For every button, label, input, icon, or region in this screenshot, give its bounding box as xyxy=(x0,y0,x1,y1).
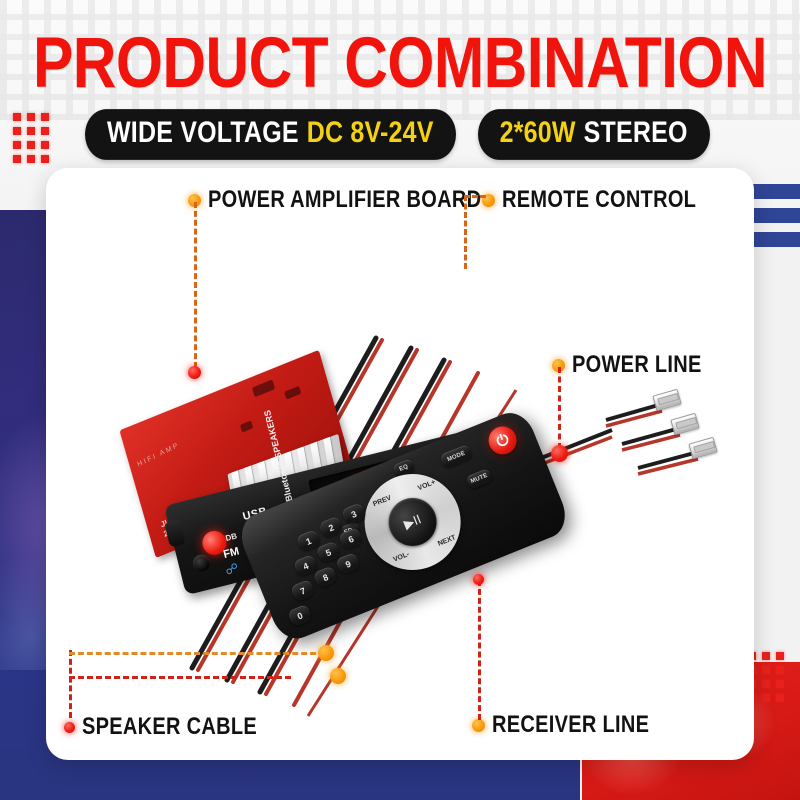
remote-key-7[interactable]: 7 xyxy=(290,579,316,603)
badge-wide-voltage: WIDE VOLTAGE DC 8V-24V xyxy=(85,109,456,160)
callout-line-speaker-h2 xyxy=(69,676,291,679)
remote-key-0[interactable]: 0 xyxy=(287,604,313,628)
anchor-dot-receiver xyxy=(473,574,484,585)
anchor-dot-power xyxy=(551,445,568,462)
remote-power-button[interactable]: ⏻ xyxy=(484,422,520,458)
jst-connector-3 xyxy=(688,437,717,460)
callout-speaker-cable: SPEAKER CABLE xyxy=(64,716,257,739)
callout-line-speaker-v xyxy=(69,650,72,718)
callout-receiver-line: RECEIVER LINE xyxy=(472,714,649,737)
callout-label: POWER AMPLIFIER BOARD xyxy=(208,187,481,215)
callout-power-amplifier-board: POWER AMPLIFIER BOARD xyxy=(188,189,481,212)
orange-dot-icon xyxy=(472,719,485,732)
callout-label: REMOTE CONTROL xyxy=(502,187,696,215)
remote-button-mode[interactable]: MODE xyxy=(440,444,473,469)
product-card: HIFI AMP JL-Y06 V1.0 2022-01-20 DB FM xyxy=(46,168,754,760)
product-combination-banner: PRODUCT COMBINATION WIDE VOLTAGE DC 8V-2… xyxy=(0,0,800,800)
callout-line-speaker-h1 xyxy=(69,652,325,655)
callout-label: RECEIVER LINE xyxy=(492,712,649,740)
pcb-silk-side: HIFI AMP xyxy=(137,442,181,469)
callout-remote-control: REMOTE CONTROL xyxy=(482,189,696,212)
badge-wide-voltage-value: DC 8V-24V xyxy=(307,116,434,150)
remote-key-9[interactable]: 9 xyxy=(335,552,361,576)
callout-line-remote-v xyxy=(464,195,467,269)
badge-stereo-power-label: STEREO xyxy=(584,116,688,150)
dpad-label-voldown: VOL- xyxy=(392,551,410,564)
jst-connector-1 xyxy=(652,389,681,412)
callout-power-line: POWER LINE xyxy=(552,354,702,377)
remote-button-mute[interactable]: MUTE xyxy=(466,468,493,490)
remote-key-8[interactable]: 8 xyxy=(313,565,339,589)
mount-hole-left xyxy=(191,553,212,574)
dot-grid-left xyxy=(13,113,49,163)
anchor-dot-speaker-1 xyxy=(318,645,334,661)
anchor-dot-amp xyxy=(188,366,201,379)
jst-connector-2 xyxy=(670,413,699,436)
remote-dpad[interactable]: PREV VOL+ VOL- NEXT ▶II xyxy=(350,460,475,585)
spec-badge-row: WIDE VOLTAGE DC 8V-24V 2*60W STEREO xyxy=(85,113,710,156)
dpad-label-next: NEXT xyxy=(437,534,457,547)
power-icon: ⏻ xyxy=(494,430,511,450)
dpad-label-volup: VOL+ xyxy=(417,479,437,492)
red-dot-icon xyxy=(64,722,75,733)
callout-line-receiver xyxy=(478,580,481,720)
anchor-dot-speaker-2 xyxy=(330,668,346,684)
remote-key-3[interactable]: 3 xyxy=(341,502,367,526)
badge-stereo-power-value: 2*60W xyxy=(500,116,576,150)
callout-line-remote-h xyxy=(464,195,486,198)
page-title: PRODUCT COMBINATION xyxy=(0,28,800,99)
badge-wide-voltage-label: WIDE VOLTAGE xyxy=(107,116,299,150)
dpad-label-prev: PREV xyxy=(372,495,392,509)
callout-line-amp xyxy=(194,202,197,368)
badge-stereo-power: 2*60W STEREO xyxy=(478,109,710,160)
callout-label: SPEAKER CABLE xyxy=(82,714,257,742)
callout-label: POWER LINE xyxy=(572,352,702,380)
play-pause-icon: ▶II xyxy=(402,511,424,532)
callout-line-power xyxy=(558,367,561,449)
